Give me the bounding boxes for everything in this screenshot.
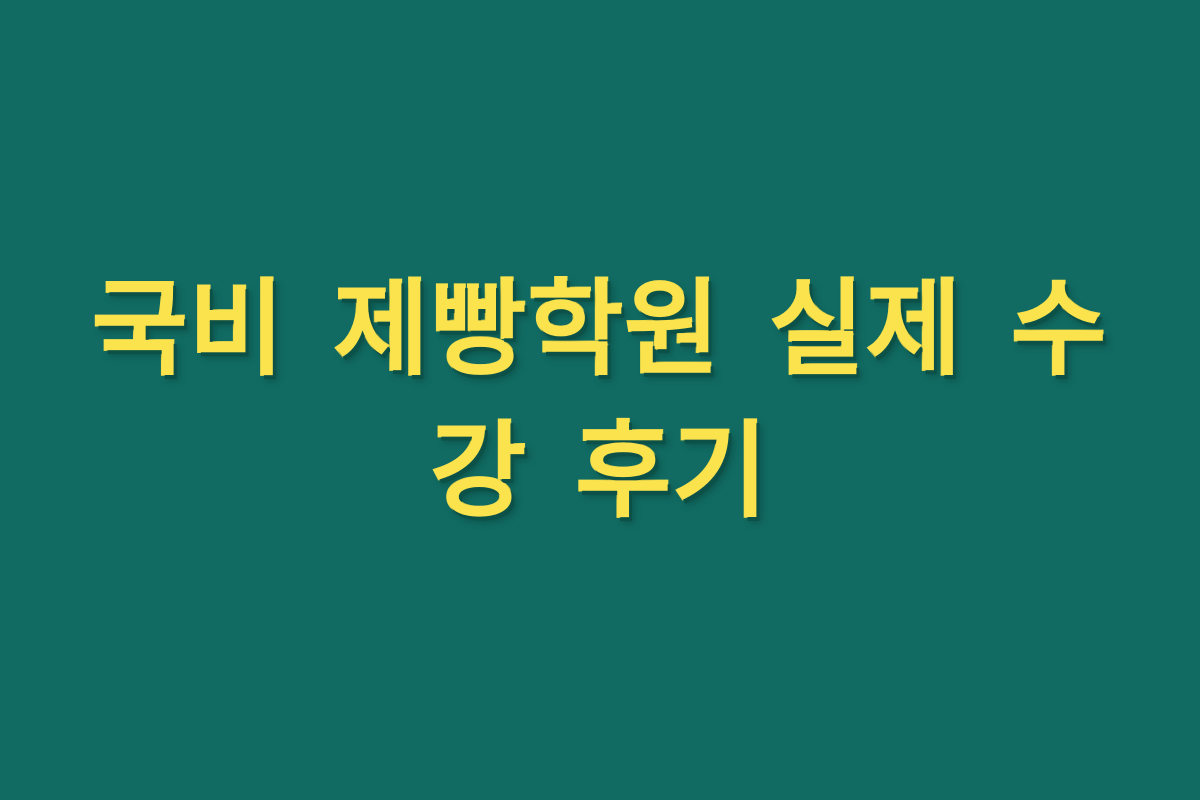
banner-canvas: 국비 제빵학원 실제 수강 후기 (0, 0, 1200, 800)
page-title: 국비 제빵학원 실제 수강 후기 (0, 258, 1200, 542)
